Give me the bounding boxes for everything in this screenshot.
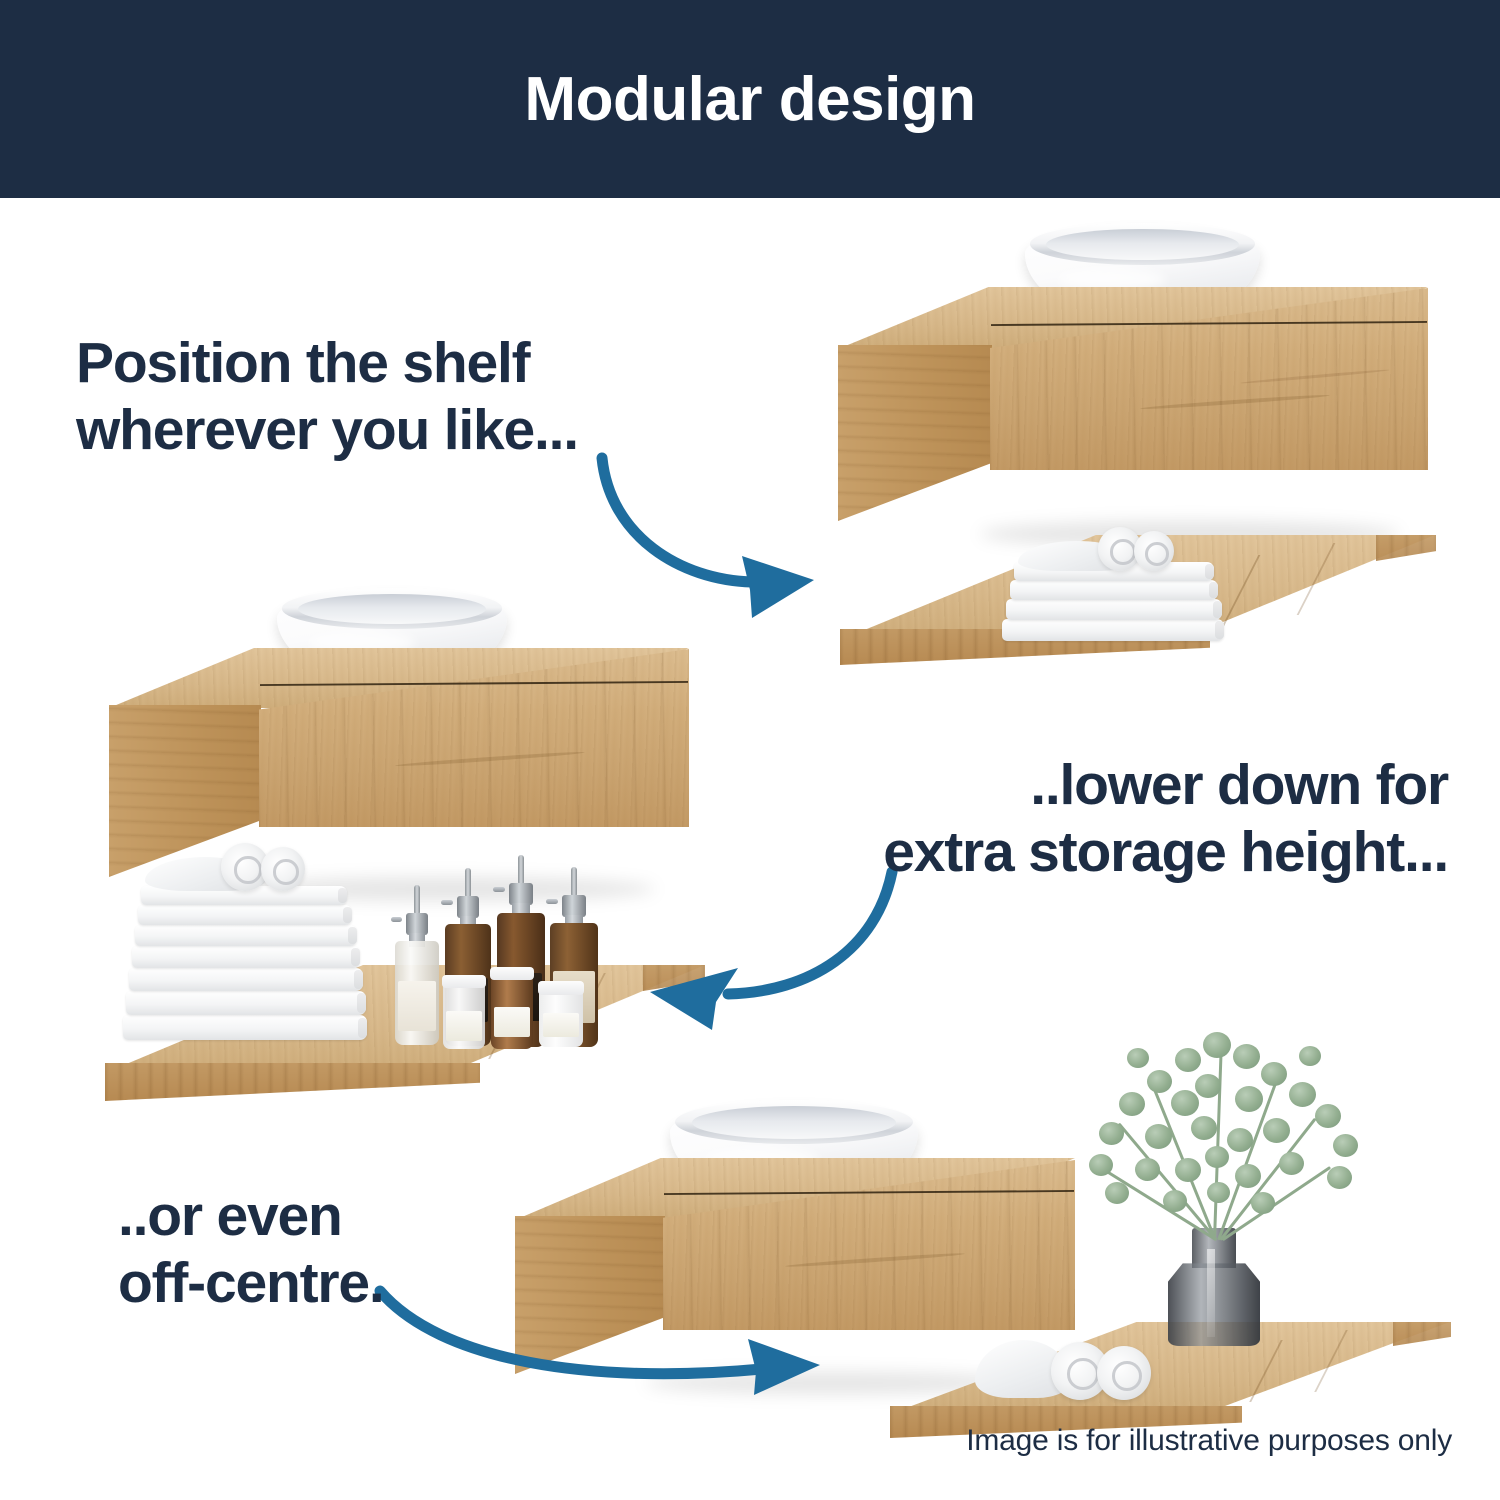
cosmetic-jar bbox=[491, 967, 533, 1049]
basin-inner bbox=[298, 594, 487, 624]
jar-label bbox=[543, 1013, 580, 1037]
pump-stem bbox=[571, 867, 577, 897]
shelf-right-edge bbox=[643, 965, 705, 991]
towel-fold bbox=[1010, 580, 1218, 600]
jar-label bbox=[446, 1011, 481, 1041]
pump-spout bbox=[391, 917, 402, 922]
towel-fold bbox=[132, 946, 360, 968]
folded-towel-stack bbox=[123, 843, 373, 1043]
scene-vanity-shelf-below bbox=[810, 225, 1460, 665]
shelf-front-edge bbox=[105, 1063, 480, 1101]
eucalyptus-stems bbox=[1075, 1030, 1375, 1255]
jar-lid bbox=[538, 981, 585, 995]
eucalyptus-leaf bbox=[1205, 1146, 1229, 1168]
bottle-label bbox=[398, 981, 437, 1031]
eucalyptus-leaf bbox=[1099, 1122, 1124, 1145]
pump-cap bbox=[562, 895, 585, 917]
page-title: Modular design bbox=[524, 64, 975, 135]
eucalyptus-leaf bbox=[1163, 1190, 1187, 1212]
infographic-canvas: Modular design bbox=[0, 0, 1500, 1500]
callout-off-centre: ..or even off-centre. bbox=[118, 1183, 383, 1317]
pump-spout bbox=[493, 887, 505, 892]
eucalyptus-leaf bbox=[1315, 1104, 1341, 1128]
basin-inner bbox=[692, 1106, 895, 1139]
cosmetic-jar bbox=[539, 981, 583, 1047]
vanity-left-side bbox=[515, 1216, 665, 1374]
eucalyptus-leaf bbox=[1227, 1128, 1253, 1152]
towel-fold bbox=[1002, 619, 1224, 641]
eucalyptus-leaf bbox=[1333, 1134, 1358, 1157]
eucalyptus-leaf bbox=[1171, 1090, 1199, 1116]
pump-spout bbox=[546, 899, 558, 904]
towel-fold bbox=[1006, 599, 1222, 620]
eucalyptus-leaf bbox=[1235, 1086, 1263, 1112]
shelf-right-edge bbox=[1393, 1322, 1451, 1346]
eucalyptus-leaf bbox=[1263, 1118, 1290, 1143]
eucalyptus-leaf bbox=[1147, 1070, 1172, 1093]
basin-inner bbox=[1046, 229, 1239, 260]
eucalyptus-leaf bbox=[1279, 1152, 1304, 1175]
pump-stem bbox=[465, 868, 471, 898]
folded-towel-stack bbox=[1002, 525, 1232, 645]
scene-vanity-offcentre-shelf bbox=[485, 1040, 1435, 1420]
eucalyptus-leaf bbox=[1175, 1048, 1201, 1072]
eucalyptus-leaf bbox=[1195, 1074, 1221, 1098]
eucalyptus-leaf bbox=[1299, 1046, 1321, 1066]
pump-cap bbox=[457, 896, 479, 918]
basin-highlight bbox=[1058, 269, 1166, 290]
scene-vanity-shelf-lowered bbox=[95, 585, 715, 1085]
towel-fold bbox=[123, 1015, 367, 1040]
vanity-left-side bbox=[838, 345, 992, 521]
eucalyptus-leaf bbox=[1175, 1158, 1201, 1182]
illustrative-purposes-note: Image is for illustrative purposes only bbox=[966, 1424, 1452, 1458]
eucalyptus-leaf bbox=[1251, 1192, 1275, 1214]
eucalyptus-leaf bbox=[1089, 1154, 1113, 1176]
callout-position-shelf: Position the shelf wherever you like... bbox=[76, 330, 578, 464]
rolled-towel-group bbox=[975, 1328, 1165, 1418]
eucalyptus-leaf bbox=[1119, 1092, 1145, 1116]
vase-highlight bbox=[1207, 1249, 1215, 1336]
towel-fold bbox=[138, 905, 352, 925]
eucalyptus-leaf bbox=[1327, 1166, 1352, 1189]
jar-label bbox=[494, 1007, 529, 1037]
pump-stem bbox=[518, 855, 524, 885]
header-banner: Modular design bbox=[0, 0, 1500, 198]
eucalyptus-leaf bbox=[1261, 1062, 1287, 1086]
towel-roll bbox=[261, 847, 305, 891]
eucalyptus-leaf bbox=[1127, 1048, 1149, 1068]
eucalyptus-leaf bbox=[1207, 1182, 1230, 1203]
towel-fold bbox=[135, 925, 357, 946]
callout-lower-down: ..lower down for extra storage height... bbox=[883, 752, 1448, 886]
eucalyptus-leaf bbox=[1135, 1158, 1160, 1181]
jar-lid bbox=[442, 975, 487, 988]
amber-pump-bottle bbox=[395, 885, 439, 1045]
jar-lid bbox=[490, 967, 535, 980]
towel-roll bbox=[1097, 1346, 1151, 1400]
eucalyptus-leaf bbox=[1233, 1044, 1260, 1069]
pump-stem bbox=[414, 885, 420, 915]
eucalyptus-leaf bbox=[1235, 1164, 1261, 1188]
shelf-right-edge bbox=[1376, 535, 1436, 561]
pump-cap bbox=[509, 883, 532, 905]
pump-cap bbox=[406, 913, 427, 935]
towel-fold bbox=[126, 991, 366, 1015]
eucalyptus-leaf bbox=[1105, 1182, 1129, 1204]
eucalyptus-leaf bbox=[1289, 1082, 1316, 1107]
eucalyptus-leaf bbox=[1145, 1124, 1172, 1149]
cosmetic-jar bbox=[443, 975, 485, 1049]
towel-roll bbox=[1134, 531, 1174, 571]
eucalyptus-leaf bbox=[1191, 1116, 1217, 1140]
pump-spout bbox=[441, 900, 453, 905]
eucalyptus-leaf bbox=[1203, 1032, 1231, 1058]
towel-fold bbox=[129, 968, 363, 991]
